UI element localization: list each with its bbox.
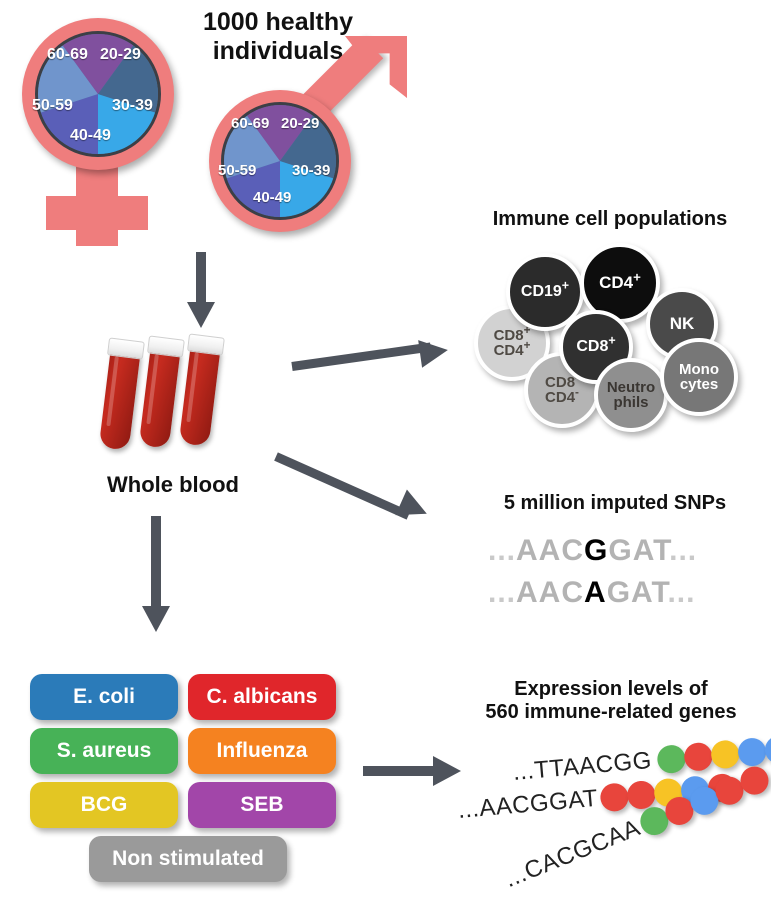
stimulus-influenza[interactable]: Influenza: [188, 728, 336, 774]
cell-label-line2: CD4-: [545, 390, 579, 405]
rna-bead: [656, 744, 686, 774]
rna-bead: [764, 735, 771, 765]
cell-label-line2: cytes: [680, 377, 718, 392]
snp-ellipsis-left: ...: [488, 534, 516, 567]
arrow-blood-to-snp: [276, 448, 448, 544]
stimulus-e-coli[interactable]: E. coli: [30, 674, 178, 720]
stimulus-label: C. albicans: [207, 685, 318, 709]
stimulus-label: BCG: [81, 793, 128, 817]
stimulus-s-aureus[interactable]: S. aureus: [30, 728, 178, 774]
rna-strands-group: ...TTAACGG ...AACGGAT ...CACGCAA: [440, 735, 771, 915]
cell-label-line1: Mono: [679, 362, 719, 377]
cell-label: NK: [670, 315, 695, 332]
cell-label: CD8+: [576, 339, 615, 355]
snp-ellipsis-right: ...: [667, 576, 695, 609]
expression-title: Expression levels of 560 immune-related …: [455, 678, 767, 724]
whole-blood-label: Whole blood: [78, 472, 268, 497]
stimulus-non-stimulated[interactable]: Non stimulated: [89, 836, 287, 882]
cell-label-line1: Neutro: [607, 380, 655, 395]
snp-sequence-row-2: ...AACAGAT...: [488, 576, 738, 610]
snp-right-bases: GAT: [608, 534, 669, 567]
expression-title-line1: Expression levels of: [455, 678, 767, 701]
arrow-shaft: [151, 516, 161, 608]
snp-ellipsis-left: ...: [488, 576, 516, 609]
immune-cell-cluster: CD8+ CD4+ CD19+ CD8- CD4- CD4+ CD8+ NK N…: [0, 0, 771, 430]
expression-title-line2: 560 immune-related genes: [455, 701, 767, 724]
stimulus-label: S. aureus: [57, 739, 152, 763]
rna-bead: [626, 780, 656, 810]
rna-sequence-3: ...CACGCAA: [501, 814, 645, 894]
rna-bead: [683, 742, 713, 772]
cell-label-line2: CD4+: [494, 343, 531, 358]
arrow-blood-to-stimuli: [140, 516, 172, 636]
arrow-shaft: [274, 452, 410, 519]
cell-label: CD19+: [521, 284, 569, 300]
stimulus-label: SEB: [240, 793, 283, 817]
snp-left-bases: AAC: [516, 576, 584, 609]
cell-label: CD4+: [599, 274, 641, 291]
rna-bead: [599, 782, 629, 812]
rna-bead: [710, 739, 740, 769]
stimuli-panel: E. coli C. albicans S. aureus Influenza …: [30, 674, 350, 894]
snp-left-bases: AAC: [516, 534, 584, 567]
snp-title: 5 million imputed SNPs: [470, 492, 760, 515]
snp-variant-allele: G: [584, 534, 608, 567]
immune-cell-monocytes: Mono cytes: [660, 338, 738, 416]
stimulus-c-albicans[interactable]: C. albicans: [188, 674, 336, 720]
cell-label-line2: phils: [613, 395, 648, 410]
immune-cell-neutrophils: Neutro phils: [594, 358, 668, 432]
figure-canvas: 1000 healthy individuals 20-29 30-39 40-…: [0, 0, 771, 922]
snp-right-bases: GAT: [607, 576, 668, 609]
snp-ellipsis-right: ...: [669, 534, 697, 567]
stimulus-label: Influenza: [216, 739, 307, 763]
arrow-shaft: [363, 766, 435, 776]
arrow-head: [396, 490, 433, 527]
rna-sequence-2: ...AACGGAT: [457, 785, 599, 825]
stimulus-bcg[interactable]: BCG: [30, 782, 178, 828]
stimulus-label: Non stimulated: [112, 847, 264, 871]
arrow-head: [142, 606, 170, 632]
stimulus-label: E. coli: [73, 685, 135, 709]
rna-bead: [737, 737, 767, 767]
snp-sequence-row-1: ...AACGGAT...: [488, 534, 738, 568]
snp-variant-allele: A: [584, 576, 607, 609]
stimulus-seb[interactable]: SEB: [188, 782, 336, 828]
